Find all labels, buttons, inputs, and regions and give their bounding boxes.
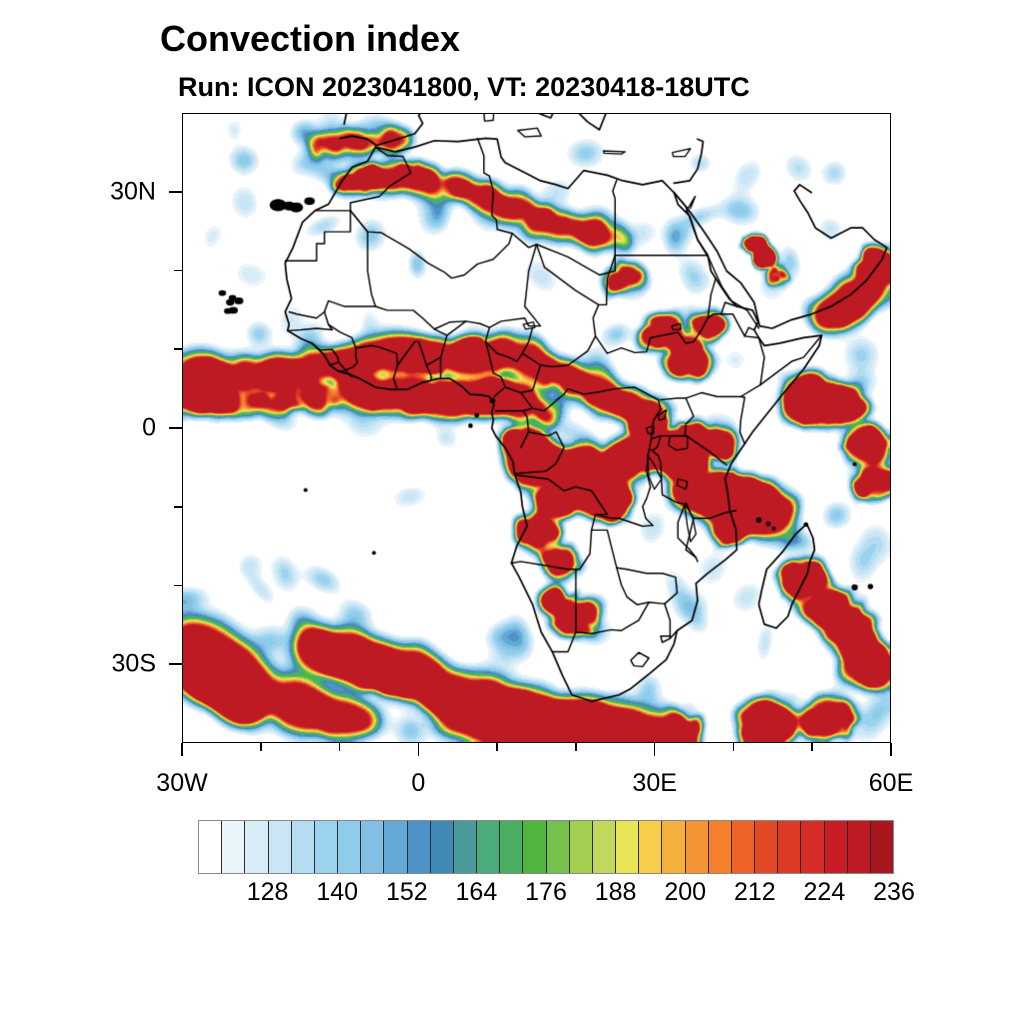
colorbar-cell bbox=[269, 821, 292, 873]
colorbar-tick-label: 152 bbox=[386, 878, 428, 907]
x-axis-label: 30W bbox=[156, 769, 207, 798]
x-axis-label: 0 bbox=[411, 769, 425, 798]
axis-tick bbox=[174, 348, 182, 350]
y-axis-label: 30S bbox=[112, 650, 156, 679]
axis-tick bbox=[811, 743, 813, 751]
colorbar-cell bbox=[431, 821, 454, 873]
colorbar-cell bbox=[686, 821, 709, 873]
colorbar-cell bbox=[500, 821, 523, 873]
colorbar-cell bbox=[755, 821, 778, 873]
run-valid-time-subtitle: Run: ICON 2023041800, VT: 20230418-18UTC bbox=[178, 72, 750, 103]
colorbar-tick-label: 200 bbox=[664, 878, 706, 907]
axis-tick bbox=[260, 743, 262, 751]
axis-tick bbox=[174, 270, 182, 272]
colorbar-cell bbox=[408, 821, 431, 873]
colorbar-cell bbox=[361, 821, 384, 873]
colorbar-cell bbox=[616, 821, 639, 873]
x-axis-label: 30E bbox=[632, 769, 676, 798]
colorbar-tick-label: 188 bbox=[595, 878, 637, 907]
colorbar-cell bbox=[222, 821, 245, 873]
axis-tick bbox=[418, 743, 420, 756]
colorbar-cell bbox=[662, 821, 685, 873]
colorbar-cell bbox=[315, 821, 338, 873]
colorbar-cell bbox=[732, 821, 755, 873]
colorbar bbox=[198, 820, 894, 874]
axis-tick bbox=[733, 743, 735, 751]
colorbar-cell bbox=[292, 821, 315, 873]
axis-tick bbox=[575, 743, 577, 751]
colorbar-cell bbox=[593, 821, 616, 873]
x-axis-label: 60E bbox=[869, 769, 913, 798]
colorbar-cell bbox=[709, 821, 732, 873]
axis-tick bbox=[174, 506, 182, 508]
page-title: Convection index bbox=[160, 18, 460, 60]
colorbar-cell bbox=[848, 821, 871, 873]
colorbar-tick-label: 236 bbox=[873, 878, 915, 907]
colorbar-cell bbox=[639, 821, 662, 873]
axis-tick bbox=[890, 743, 892, 756]
colorbar-tick-label: 128 bbox=[247, 878, 289, 907]
axis-tick bbox=[654, 743, 656, 756]
colorbar-cell bbox=[245, 821, 268, 873]
colorbar-cell bbox=[547, 821, 570, 873]
colorbar-cell bbox=[338, 821, 361, 873]
colorbar-cell bbox=[454, 821, 477, 873]
colorbar-cell bbox=[871, 821, 893, 873]
colorbar-tick-label: 212 bbox=[734, 878, 776, 907]
colorbar-cell bbox=[778, 821, 801, 873]
colorbar-cell bbox=[199, 821, 222, 873]
colorbar-cell bbox=[523, 821, 546, 873]
convection-index-map bbox=[183, 114, 890, 742]
y-axis-label: 30N bbox=[110, 177, 156, 206]
colorbar-cell bbox=[801, 821, 824, 873]
axis-tick bbox=[339, 743, 341, 751]
colorbar-cell bbox=[570, 821, 593, 873]
axis-tick bbox=[174, 585, 182, 587]
axis-tick bbox=[169, 427, 182, 429]
colorbar-tick-label: 140 bbox=[316, 878, 358, 907]
y-axis-label: 0 bbox=[142, 414, 156, 443]
colorbar-cell bbox=[384, 821, 407, 873]
axis-tick bbox=[169, 191, 182, 193]
colorbar-tick-label: 164 bbox=[456, 878, 498, 907]
axis-tick bbox=[169, 663, 182, 665]
map-plot-area bbox=[182, 113, 891, 743]
colorbar-cell bbox=[825, 821, 848, 873]
colorbar-tick-label: 224 bbox=[804, 878, 846, 907]
colorbar-tick-label: 176 bbox=[525, 878, 567, 907]
axis-tick bbox=[181, 743, 183, 756]
colorbar-cell bbox=[477, 821, 500, 873]
axis-tick bbox=[496, 743, 498, 751]
